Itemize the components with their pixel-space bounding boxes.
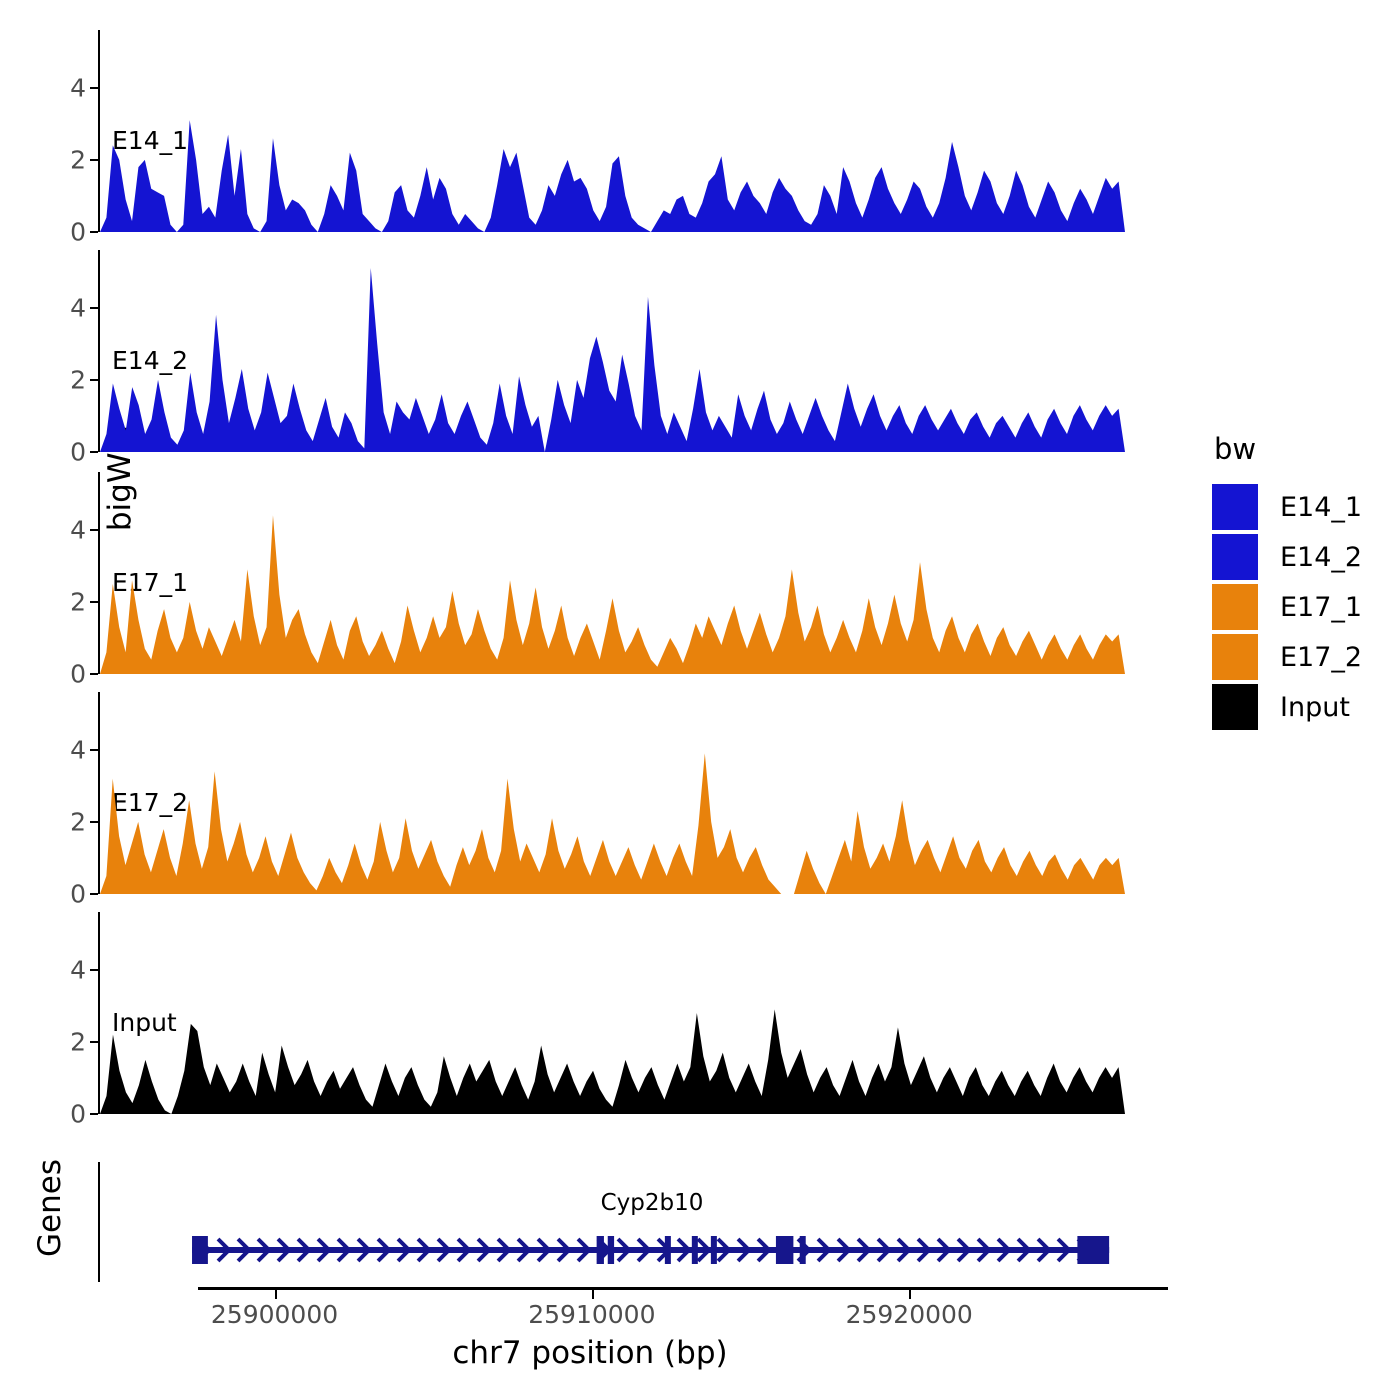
exon-block — [711, 1236, 717, 1264]
exon-block — [608, 1236, 614, 1264]
legend-label: E17_1 — [1280, 592, 1362, 623]
exon-block — [597, 1236, 604, 1264]
y-tick — [90, 821, 98, 823]
exon-block — [192, 1236, 208, 1264]
legend-item-e17_1[interactable]: E17_1 — [1212, 582, 1362, 632]
y-tick — [90, 529, 98, 531]
y-tick — [90, 159, 98, 161]
y-tick — [90, 969, 98, 971]
y-tick — [90, 749, 98, 751]
coverage-path — [100, 753, 1125, 894]
y-tick — [90, 87, 98, 89]
y-tick-label: 0 — [70, 220, 86, 245]
coverage-path — [100, 515, 1125, 674]
genome-browser-figure: bigWig Genes 024E14_1024E14_2024E17_1024… — [0, 0, 1400, 1400]
legend-swatch — [1212, 534, 1258, 580]
gene-model-svg — [0, 1162, 1130, 1282]
y-tick-label: 2 — [70, 809, 86, 834]
coverage-area-e14_2 — [100, 250, 1125, 452]
legend-swatch — [1212, 484, 1258, 530]
y-tick — [90, 379, 98, 381]
y-tick — [90, 893, 98, 895]
y-tick — [90, 451, 98, 453]
legend-item-e17_2[interactable]: E17_2 — [1212, 632, 1362, 682]
coverage-path — [100, 120, 1125, 232]
y-tick — [90, 1113, 98, 1115]
legend-swatch — [1212, 634, 1258, 680]
y-tick-label: 2 — [70, 589, 86, 614]
y-tick — [90, 673, 98, 675]
legend-title: bw — [1214, 432, 1362, 466]
exon-block — [1077, 1236, 1109, 1264]
x-tick-label: 25920000 — [846, 1300, 973, 1329]
exon-block — [692, 1236, 698, 1264]
legend-label: E17_2 — [1280, 642, 1362, 673]
x-tick — [909, 1290, 911, 1299]
legend-items: E14_1E14_2E17_1E17_2Input — [1212, 482, 1362, 732]
y-tick-label: 2 — [70, 147, 86, 172]
legend-item-input[interactable]: Input — [1212, 682, 1362, 732]
coverage-panel-input: 024Input — [98, 912, 1125, 1114]
y-tick-label: 0 — [70, 1102, 86, 1127]
x-tick-label: 25910000 — [528, 1300, 655, 1329]
y-tick-label: 4 — [70, 517, 86, 542]
y-tick-label: 2 — [70, 1029, 86, 1054]
x-tick-label: 25900000 — [211, 1300, 338, 1329]
coverage-panel-e14_2: 024E14_2 — [98, 250, 1125, 452]
gene-name-label: Cyp2b10 — [601, 1190, 704, 1216]
legend: bw E14_1E14_2E17_1E17_2Input — [1212, 432, 1362, 732]
y-tick-label: 0 — [70, 662, 86, 687]
exon-block — [776, 1236, 793, 1264]
legend-item-e14_2[interactable]: E14_2 — [1212, 532, 1362, 582]
coverage-path — [100, 1009, 1125, 1114]
x-axis-line — [198, 1287, 1168, 1290]
y-tick-label: 4 — [70, 737, 86, 762]
y-tick-label: 4 — [70, 957, 86, 982]
coverage-area-e17_1 — [100, 472, 1125, 674]
legend-swatch — [1212, 584, 1258, 630]
exon-block — [665, 1236, 671, 1264]
y-tick-label: 2 — [70, 367, 86, 392]
exon-block — [800, 1236, 806, 1264]
coverage-area-e17_2 — [100, 692, 1125, 894]
coverage-panel-e17_1: 024E17_1 — [98, 472, 1125, 674]
legend-item-e14_1[interactable]: E14_1 — [1212, 482, 1362, 532]
x-tick — [592, 1290, 594, 1299]
y-tick-label: 0 — [70, 882, 86, 907]
legend-swatch — [1212, 684, 1258, 730]
coverage-panel-e17_2: 024E17_2 — [98, 692, 1125, 894]
y-tick-label: 0 — [70, 440, 86, 465]
x-tick — [275, 1290, 277, 1299]
legend-label: E14_1 — [1280, 492, 1362, 523]
legend-label: Input — [1280, 692, 1350, 723]
y-tick — [90, 1041, 98, 1043]
x-axis-label: chr7 position (bp) — [0, 1335, 1180, 1371]
y-tick-label: 4 — [70, 295, 86, 320]
y-tick — [90, 601, 98, 603]
y-tick — [90, 307, 98, 309]
coverage-path — [100, 268, 1125, 452]
legend-label: E14_2 — [1280, 542, 1362, 573]
y-tick-label: 4 — [70, 75, 86, 100]
coverage-panel-e14_1: 024E14_1 — [98, 30, 1125, 232]
coverage-area-input — [100, 912, 1125, 1114]
coverage-area-e14_1 — [100, 30, 1125, 232]
y-tick — [90, 231, 98, 233]
